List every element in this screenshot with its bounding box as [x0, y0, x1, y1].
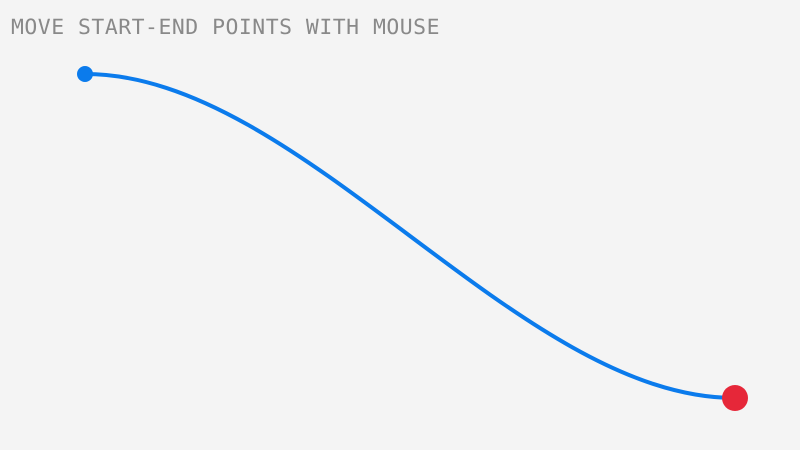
bezier-curve — [85, 74, 735, 398]
app-root: MOVE START-END POINTS WITH MOUSE — [0, 0, 800, 450]
bezier-canvas[interactable] — [0, 0, 800, 450]
end-point-handle[interactable] — [722, 385, 748, 411]
start-point-handle[interactable] — [77, 66, 93, 82]
